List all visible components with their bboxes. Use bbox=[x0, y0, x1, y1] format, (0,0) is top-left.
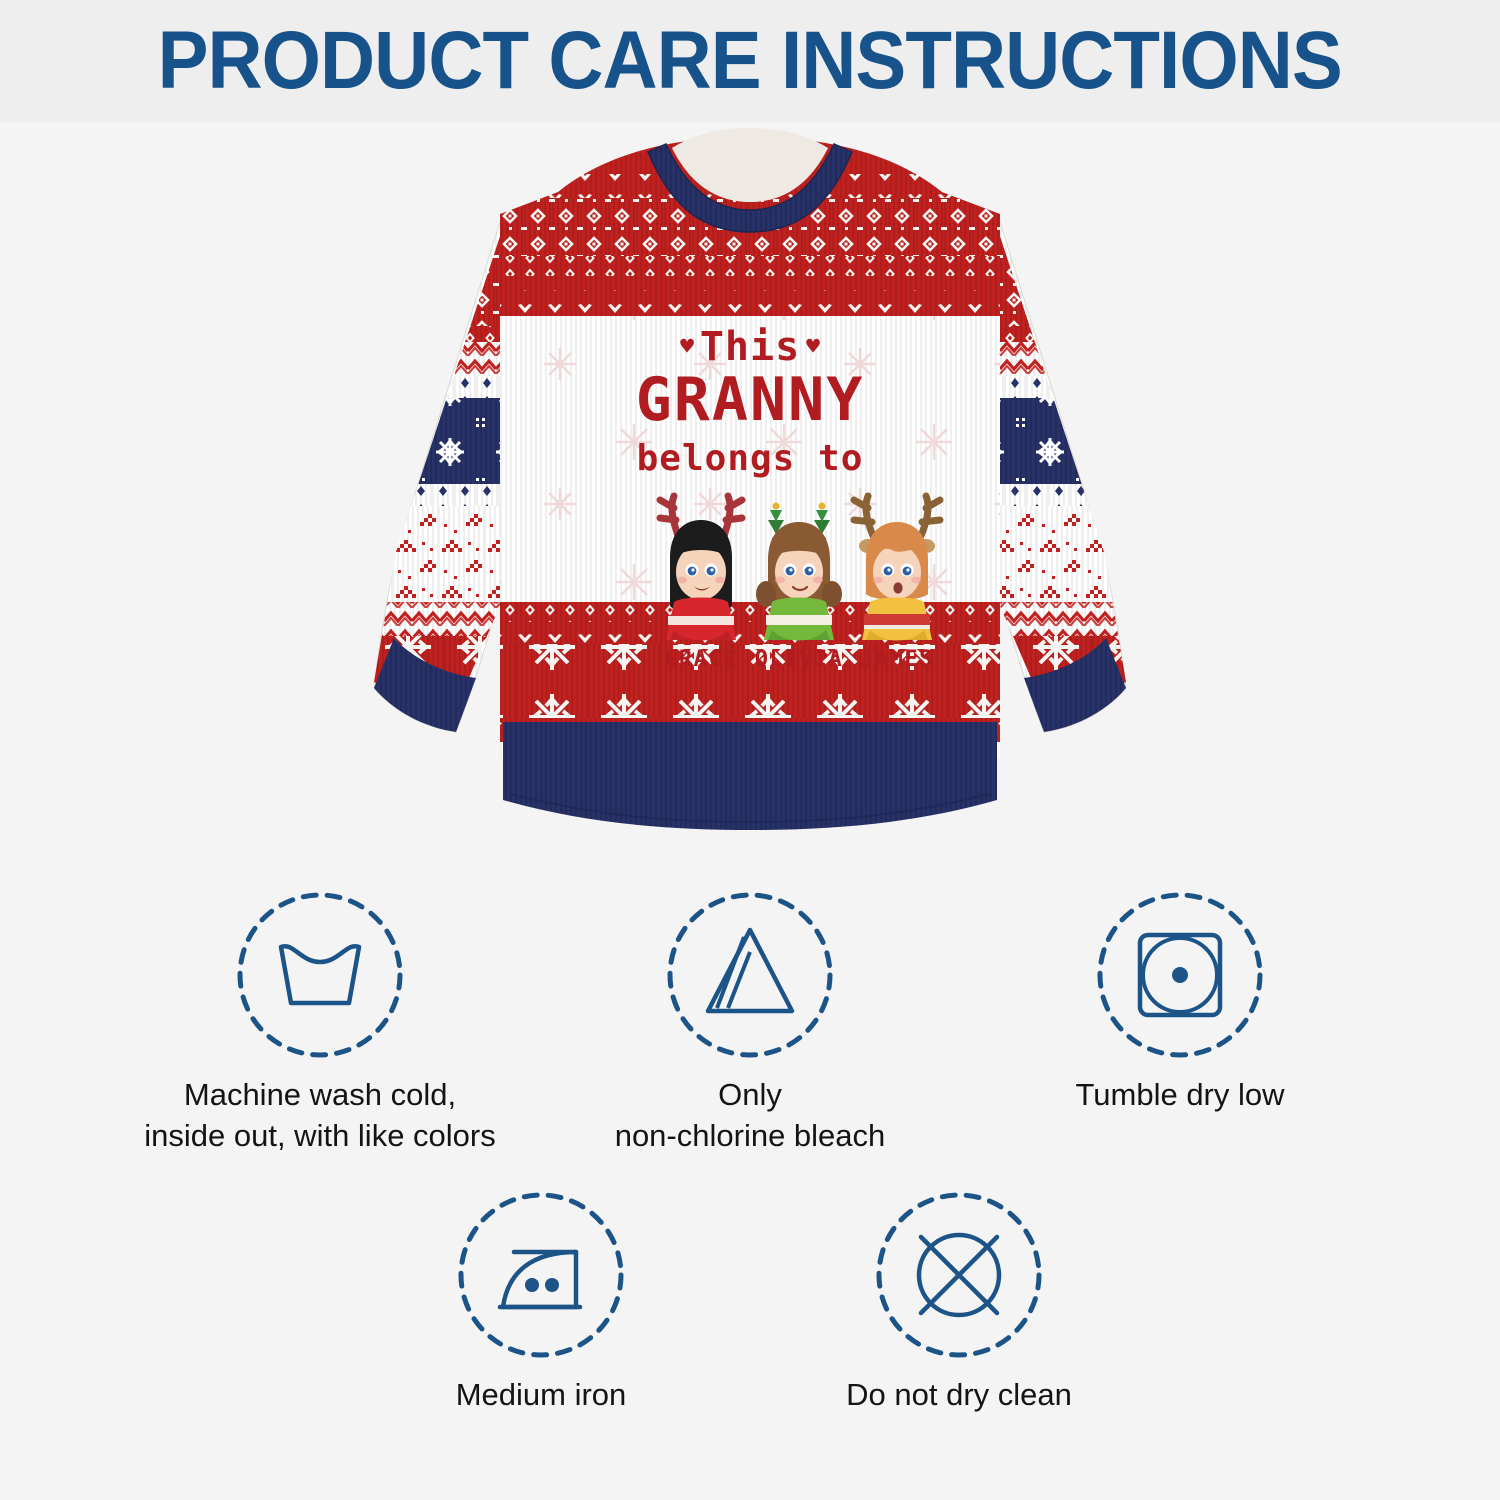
tumble-dry-low-icon bbox=[1095, 890, 1265, 1060]
care-label-dry-clean: Do not dry clean bbox=[846, 1374, 1072, 1415]
sweater-illustration: ♥ This ♥ GRANNY belongs to bbox=[300, 122, 1200, 862]
care-instructions-page: PRODUCT CARE INSTRUCTIONS bbox=[0, 0, 1500, 1500]
design-line-1: This bbox=[700, 324, 800, 370]
sweater-body: ♥ This ♥ GRANNY belongs to bbox=[490, 128, 1010, 830]
care-label-machine-wash: Machine wash cold, inside out, with like… bbox=[144, 1074, 496, 1156]
care-row-1: Machine wash cold, inside out, with like… bbox=[0, 890, 1500, 1156]
design-line-3: belongs to bbox=[637, 438, 864, 479]
care-label-iron: Medium iron bbox=[456, 1374, 627, 1415]
care-item-machine-wash: Machine wash cold, inside out, with like… bbox=[105, 890, 535, 1156]
product-image-area: ♥ This ♥ GRANNY belongs to bbox=[0, 122, 1500, 882]
care-row-2: Medium iron Do not dry clean bbox=[0, 1190, 1500, 1415]
olivia-name: OLIVIA bbox=[755, 647, 843, 672]
non-chlorine-bleach-icon bbox=[665, 890, 835, 1060]
care-item-dry-clean: Do not dry clean bbox=[750, 1190, 1168, 1415]
design-heart-right: ♥ bbox=[806, 334, 820, 360]
grace-name: GRACE bbox=[664, 647, 738, 672]
design-heart-left: ♥ bbox=[680, 334, 694, 360]
care-item-tumble-dry: Tumble dry low bbox=[965, 890, 1395, 1115]
james-name: JAMES bbox=[860, 647, 934, 672]
care-label-bleach: Only non-chlorine bleach bbox=[615, 1074, 886, 1156]
care-item-iron: Medium iron bbox=[332, 1190, 750, 1415]
design-line-2: GRANNY bbox=[636, 365, 865, 435]
machine-wash-cold-icon bbox=[235, 890, 405, 1060]
page-title: PRODUCT CARE INSTRUCTIONS bbox=[158, 20, 1342, 102]
care-symbols-section: Machine wash cold, inside out, with like… bbox=[0, 890, 1500, 1500]
header-band: PRODUCT CARE INSTRUCTIONS bbox=[0, 0, 1500, 122]
medium-iron-icon bbox=[456, 1190, 626, 1360]
care-label-tumble-dry: Tumble dry low bbox=[1075, 1074, 1284, 1115]
care-item-bleach: Only non-chlorine bleach bbox=[535, 890, 965, 1156]
do-not-dry-clean-icon bbox=[874, 1190, 1044, 1360]
